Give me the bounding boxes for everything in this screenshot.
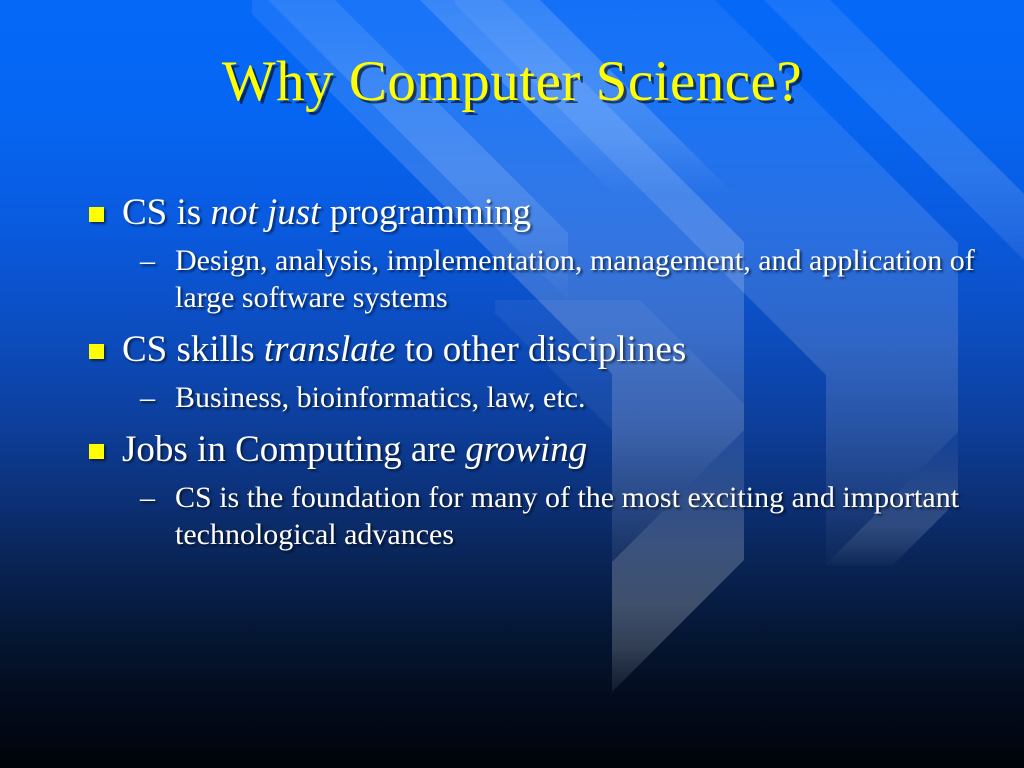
- bullet-level2: – Design, analysis, implementation, mana…: [78, 243, 978, 316]
- bullet-level1: CS skills translate to other disciplines: [78, 329, 978, 370]
- dash-bullet-icon: –: [140, 480, 155, 517]
- dash-bullet-icon: –: [140, 243, 155, 280]
- bullet-level2: – Business, bioinformatics, law, etc.: [78, 380, 978, 417]
- bullet-level1: Jobs in Computing are growing: [78, 429, 978, 470]
- slide-title: Why Computer Science?: [0, 52, 1024, 112]
- bullet-text: Business, bioinformatics, law, etc.: [175, 381, 585, 414]
- bullet-text: CS is not just programming: [122, 192, 531, 233]
- bullet-text: Jobs in Computing are growing: [122, 429, 587, 470]
- dash-bullet-icon: –: [140, 380, 155, 417]
- square-bullet-icon: [89, 444, 104, 459]
- presentation-slide: Why Computer Science? CS is not just pro…: [0, 0, 1024, 768]
- bullet-level1: CS is not just programming: [78, 192, 978, 233]
- square-bullet-icon: [89, 207, 104, 222]
- square-bullet-icon: [89, 344, 104, 359]
- bullet-text: CS skills translate to other disciplines: [122, 329, 686, 370]
- bullet-text: Design, analysis, implementation, manage…: [175, 244, 975, 314]
- slide-body: CS is not just programming – Design, ana…: [78, 192, 978, 561]
- bullet-text: CS is the foundation for many of the mos…: [175, 481, 959, 551]
- bullet-level2: – CS is the foundation for many of the m…: [78, 480, 978, 553]
